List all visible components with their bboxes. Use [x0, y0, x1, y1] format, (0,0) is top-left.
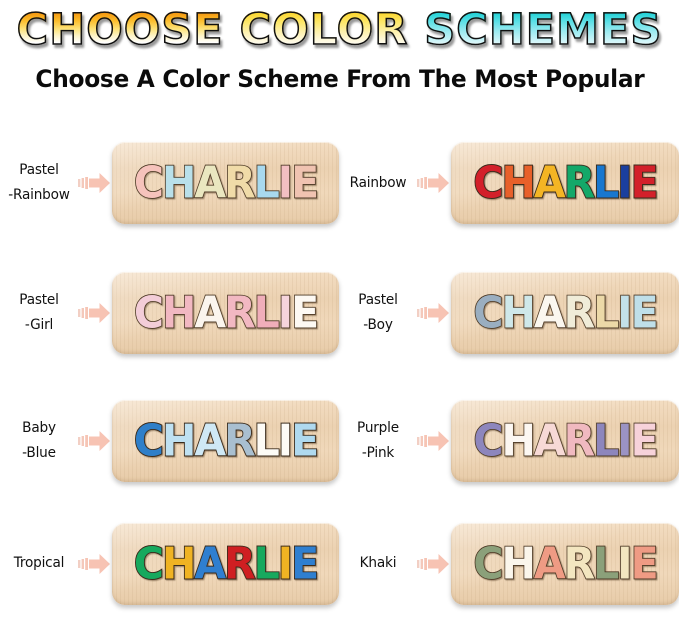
- puzzle-letter-h-1[interactable]: H: [162, 161, 194, 204]
- puzzle-letter-r-3[interactable]: R: [564, 291, 594, 334]
- scheme-label-line1: Baby: [22, 420, 56, 436]
- puzzle-letter-e-6[interactable]: E: [291, 542, 317, 585]
- title-space-1: [224, 5, 240, 55]
- right-arrow-icon: [78, 551, 112, 577]
- puzzle-letter-e-6[interactable]: E: [631, 419, 657, 462]
- puzzle-letter-a-2[interactable]: A: [534, 419, 564, 462]
- right-arrow-icon: [417, 428, 451, 454]
- page-header: CHOOSE COLOR SCHEMES Choose A Color Sche…: [0, 0, 679, 100]
- puzzle-letter-i-5[interactable]: I: [278, 419, 291, 462]
- page-title: CHOOSE COLOR SCHEMES: [17, 7, 663, 53]
- puzzle-letter-l-4[interactable]: L: [254, 291, 278, 334]
- scheme-cell-purple-pink[interactable]: Purple-PinkCHARLIE: [339, 378, 679, 503]
- puzzle-letter-e-6[interactable]: E: [631, 542, 657, 585]
- puzzle-letter-l-4[interactable]: L: [593, 161, 617, 204]
- scheme-label-line1: Tropical: [14, 555, 65, 571]
- puzzle-letter-a-2[interactable]: A: [194, 542, 224, 585]
- puzzle-letter-c-0[interactable]: C: [473, 419, 501, 462]
- puzzle-letter-l-4[interactable]: L: [593, 291, 617, 334]
- scheme-label-khaki: Khaki: [341, 554, 414, 573]
- right-arrow-icon: [417, 551, 451, 577]
- puzzle-letter-a-2[interactable]: A: [534, 161, 564, 204]
- puzzle-letter-r-3[interactable]: R: [224, 542, 254, 585]
- scheme-label-line2: -Boy: [341, 313, 414, 338]
- scheme-label-tropical: Tropical: [2, 554, 75, 573]
- scheme-cell-baby-blue[interactable]: Baby-BlueCHARLIE: [0, 378, 339, 503]
- puzzle-word-pastel-girl: CHARLIE: [134, 293, 317, 334]
- name-puzzle-board-pastel-rainbow[interactable]: CHARLIE: [112, 142, 339, 224]
- right-arrow-icon: [78, 300, 112, 326]
- scheme-label-line1: Rainbow: [350, 175, 407, 191]
- puzzle-letter-a-2[interactable]: A: [194, 161, 224, 204]
- scheme-label-purple-pink: Purple-Pink: [341, 416, 414, 466]
- scheme-label-line1: Khaki: [360, 555, 397, 571]
- scheme-label-line1: Purple: [357, 420, 399, 436]
- scheme-label-line2: -Blue: [2, 441, 75, 466]
- puzzle-letter-r-3[interactable]: R: [564, 161, 594, 204]
- right-arrow-icon: [417, 300, 451, 326]
- scheme-label-rainbow: Rainbow: [341, 174, 414, 193]
- puzzle-letter-l-4[interactable]: L: [254, 542, 278, 585]
- puzzle-letter-c-0[interactable]: C: [473, 542, 501, 585]
- puzzle-letter-i-5[interactable]: I: [278, 161, 291, 204]
- puzzle-letter-h-1[interactable]: H: [162, 542, 194, 585]
- color-schemes-grid: Pastel-RainbowCHARLIERainbowCHARLIEPaste…: [0, 118, 679, 624]
- puzzle-word-tropical: CHARLIE: [134, 543, 317, 584]
- puzzle-letter-h-1[interactable]: H: [502, 419, 534, 462]
- puzzle-letter-i-5[interactable]: I: [617, 291, 630, 334]
- scheme-label-line2: -Girl: [2, 313, 75, 338]
- puzzle-letter-e-6[interactable]: E: [631, 161, 657, 204]
- puzzle-letter-r-3[interactable]: R: [224, 291, 254, 334]
- puzzle-letter-e-6[interactable]: E: [291, 291, 317, 334]
- name-puzzle-board-purple-pink[interactable]: CHARLIE: [451, 400, 679, 482]
- puzzle-word-khaki: CHARLIE: [473, 543, 656, 584]
- title-word-1: CHOOSE: [17, 5, 224, 55]
- name-puzzle-board-tropical[interactable]: CHARLIE: [112, 523, 339, 605]
- puzzle-letter-a-2[interactable]: A: [194, 419, 224, 462]
- puzzle-letter-h-1[interactable]: H: [162, 419, 194, 462]
- puzzle-letter-r-3[interactable]: R: [564, 419, 594, 462]
- name-puzzle-board-khaki[interactable]: CHARLIE: [451, 523, 679, 605]
- puzzle-letter-e-6[interactable]: E: [291, 161, 317, 204]
- title-space-2: [408, 5, 424, 55]
- puzzle-letter-h-1[interactable]: H: [162, 291, 194, 334]
- puzzle-letter-r-3[interactable]: R: [564, 542, 594, 585]
- puzzle-word-pastel-boy: CHARLIE: [473, 293, 656, 334]
- puzzle-word-pastel-rainbow: CHARLIE: [134, 163, 317, 204]
- puzzle-word-rainbow: CHARLIE: [473, 163, 656, 204]
- puzzle-letter-c-0[interactable]: C: [134, 542, 162, 585]
- right-arrow-icon: [78, 170, 112, 196]
- puzzle-letter-i-5[interactable]: I: [617, 542, 630, 585]
- scheme-cell-pastel-boy[interactable]: Pastel-BoyCHARLIE: [339, 248, 679, 378]
- scheme-cell-pastel-rainbow[interactable]: Pastel-RainbowCHARLIE: [0, 118, 339, 248]
- puzzle-letter-i-5[interactable]: I: [278, 542, 291, 585]
- puzzle-letter-a-2[interactable]: A: [534, 291, 564, 334]
- name-puzzle-board-rainbow[interactable]: CHARLIE: [451, 142, 679, 224]
- puzzle-letter-l-4[interactable]: L: [254, 419, 278, 462]
- puzzle-letter-l-4[interactable]: L: [254, 161, 278, 204]
- scheme-label-line1: Pastel: [19, 162, 58, 178]
- page-subtitle: Choose A Color Scheme From The Most Popu…: [35, 66, 644, 92]
- puzzle-letter-i-5[interactable]: I: [278, 291, 291, 334]
- scheme-label-baby-blue: Baby-Blue: [2, 416, 75, 466]
- puzzle-letter-h-1[interactable]: H: [502, 161, 534, 204]
- puzzle-letter-h-1[interactable]: H: [502, 542, 534, 585]
- scheme-cell-rainbow[interactable]: RainbowCHARLIE: [339, 118, 679, 248]
- puzzle-letter-r-3[interactable]: R: [224, 419, 254, 462]
- puzzle-letter-c-0[interactable]: C: [134, 291, 162, 334]
- scheme-label-line1: Pastel: [19, 292, 58, 308]
- puzzle-letter-a-2[interactable]: A: [534, 542, 564, 585]
- puzzle-letter-c-0[interactable]: C: [473, 161, 501, 204]
- scheme-label-pastel-boy: Pastel-Boy: [341, 288, 414, 338]
- puzzle-letter-l-4[interactable]: L: [593, 419, 617, 462]
- puzzle-letter-c-0[interactable]: C: [134, 161, 162, 204]
- scheme-label-line1: Pastel: [358, 292, 397, 308]
- scheme-label-line2: -Rainbow: [2, 183, 75, 208]
- puzzle-word-purple-pink: CHARLIE: [473, 420, 656, 461]
- puzzle-letter-c-0[interactable]: C: [473, 291, 501, 334]
- name-puzzle-board-baby-blue[interactable]: CHARLIE: [112, 400, 339, 482]
- title-word-2: COLOR: [240, 5, 409, 55]
- right-arrow-icon: [417, 170, 451, 196]
- scheme-label-pastel-rainbow: Pastel-Rainbow: [2, 158, 75, 208]
- puzzle-letter-r-3[interactable]: R: [224, 161, 254, 204]
- puzzle-letter-e-6[interactable]: E: [291, 419, 317, 462]
- puzzle-word-baby-blue: CHARLIE: [134, 420, 317, 461]
- puzzle-letter-a-2[interactable]: A: [194, 291, 224, 334]
- puzzle-letter-e-6[interactable]: E: [631, 291, 657, 334]
- name-puzzle-board-pastel-girl[interactable]: CHARLIE: [112, 272, 339, 354]
- scheme-label-line2: -Pink: [341, 441, 414, 466]
- puzzle-letter-i-5[interactable]: I: [617, 161, 630, 204]
- puzzle-letter-h-1[interactable]: H: [502, 291, 534, 334]
- puzzle-letter-i-5[interactable]: I: [617, 419, 630, 462]
- scheme-cell-pastel-girl[interactable]: Pastel-GirlCHARLIE: [0, 248, 339, 378]
- right-arrow-icon: [78, 428, 112, 454]
- subtitle-container: Choose A Color Scheme From The Most Popu…: [0, 58, 679, 100]
- title-container: CHOOSE COLOR SCHEMES: [0, 0, 679, 58]
- name-puzzle-board-pastel-boy[interactable]: CHARLIE: [451, 272, 679, 354]
- title-word-3: SCHEMES: [424, 5, 662, 55]
- scheme-label-pastel-girl: Pastel-Girl: [2, 288, 75, 338]
- puzzle-letter-l-4[interactable]: L: [593, 542, 617, 585]
- puzzle-letter-c-0[interactable]: C: [134, 419, 162, 462]
